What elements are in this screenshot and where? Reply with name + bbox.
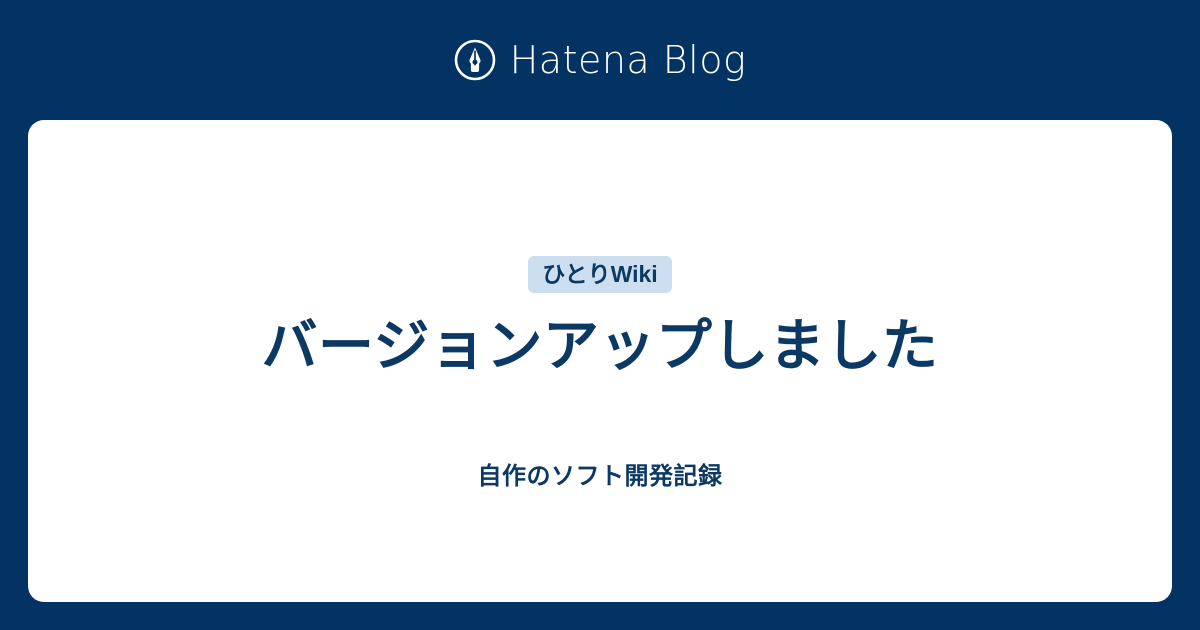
blog-name: 自作のソフト開発記録 bbox=[478, 461, 723, 492]
hatena-pen-nib-icon bbox=[454, 39, 496, 81]
entry-card-content: ひとりWiki バージョンアップしました 自作のソフト開発記録 bbox=[28, 120, 1172, 492]
hatena-blog-brand-header: Hatena Blog bbox=[0, 0, 1200, 120]
hatena-blog-logo bbox=[454, 39, 496, 81]
category-tag[interactable]: ひとりWiki bbox=[528, 256, 671, 293]
entry-card: ひとりWiki バージョンアップしました 自作のソフト開発記録 bbox=[28, 120, 1172, 602]
ogp-card-stage: Hatena Blog ひとりWiki バージョンアップしました 自作のソフト開… bbox=[0, 0, 1200, 630]
entry-title: バージョンアップしました bbox=[262, 311, 939, 381]
hatena-blog-brand-name: Hatena Blog bbox=[510, 41, 747, 79]
